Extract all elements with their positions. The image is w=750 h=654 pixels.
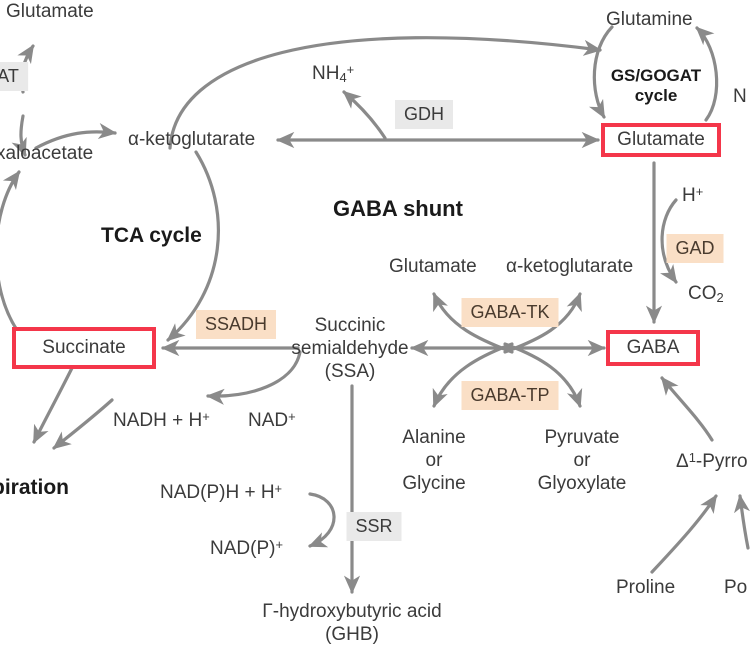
metabolite-polyamines: Po xyxy=(724,576,747,599)
metabolite-pyruvate-glyoxylate: PyruvateorGlyoxylate xyxy=(507,426,657,495)
enzyme-at[interactable]: AT xyxy=(0,62,28,91)
enzyme-gaba-tk[interactable]: GABA-TK xyxy=(461,298,558,327)
metabolite-proline: Proline xyxy=(616,576,675,599)
gaba-shunt-title: GABA shunt xyxy=(333,197,463,220)
metabolite-glutamate-top-left: Glutamate xyxy=(6,0,94,23)
metabolite-ammonia-right-cut: N xyxy=(733,85,747,108)
gs-gogat-cycle-title: GS/GOGATcycle xyxy=(611,66,701,106)
gaba-box[interactable]: GABA xyxy=(606,330,700,366)
succinate-box[interactable]: Succinate xyxy=(12,327,156,369)
metabolite-oxaloacetate: xaloacetate xyxy=(0,142,93,165)
metabolite-nadh: NADH + H+ xyxy=(113,405,210,432)
enzyme-gad[interactable]: GAD xyxy=(666,234,723,263)
glutamate-box[interactable]: Glutamate xyxy=(601,123,721,157)
enzyme-ssadh[interactable]: SSADH xyxy=(196,310,276,339)
metabolite-nad-plus: NAD+ xyxy=(248,405,296,432)
pathway-diagram: Glutamate AT xaloacetate TCA cycle pirat… xyxy=(0,0,750,654)
metabolite-nadph: NAD(P)H + H+ xyxy=(160,477,282,504)
enzyme-gaba-tp[interactable]: GABA-TP xyxy=(461,381,558,410)
metabolite-ghb: Γ-hydroxybutyric acid(GHB) xyxy=(212,600,492,646)
metabolite-respiration: piration xyxy=(0,476,69,499)
metabolite-alanine-glycine: AlanineorGlycine xyxy=(364,426,504,495)
metabolite-co2: CO2 xyxy=(688,282,724,309)
metabolite-glutamate-shunt: Glutamate xyxy=(389,255,477,278)
metabolite-succinic-semialdehyde: Succinicsemialdehyde(SSA) xyxy=(280,314,420,383)
metabolite-proton: H+ xyxy=(682,180,703,207)
metabolite-glutamine: Glutamine xyxy=(606,8,693,31)
metabolite-nadp-plus: NAD(P)+ xyxy=(210,533,283,560)
enzyme-ssr[interactable]: SSR xyxy=(346,512,401,541)
tca-cycle-title: TCA cycle xyxy=(101,224,202,247)
metabolite-ammonium: NH4+ xyxy=(312,58,354,89)
metabolite-alpha-ketoglutarate-shunt: α-ketoglutarate xyxy=(506,255,633,278)
metabolite-alpha-ketoglutarate-main: α-ketoglutarate xyxy=(128,128,255,151)
enzyme-gdh[interactable]: GDH xyxy=(395,100,453,129)
metabolite-pyrroline: Δ1-Pyrro xyxy=(676,446,748,473)
